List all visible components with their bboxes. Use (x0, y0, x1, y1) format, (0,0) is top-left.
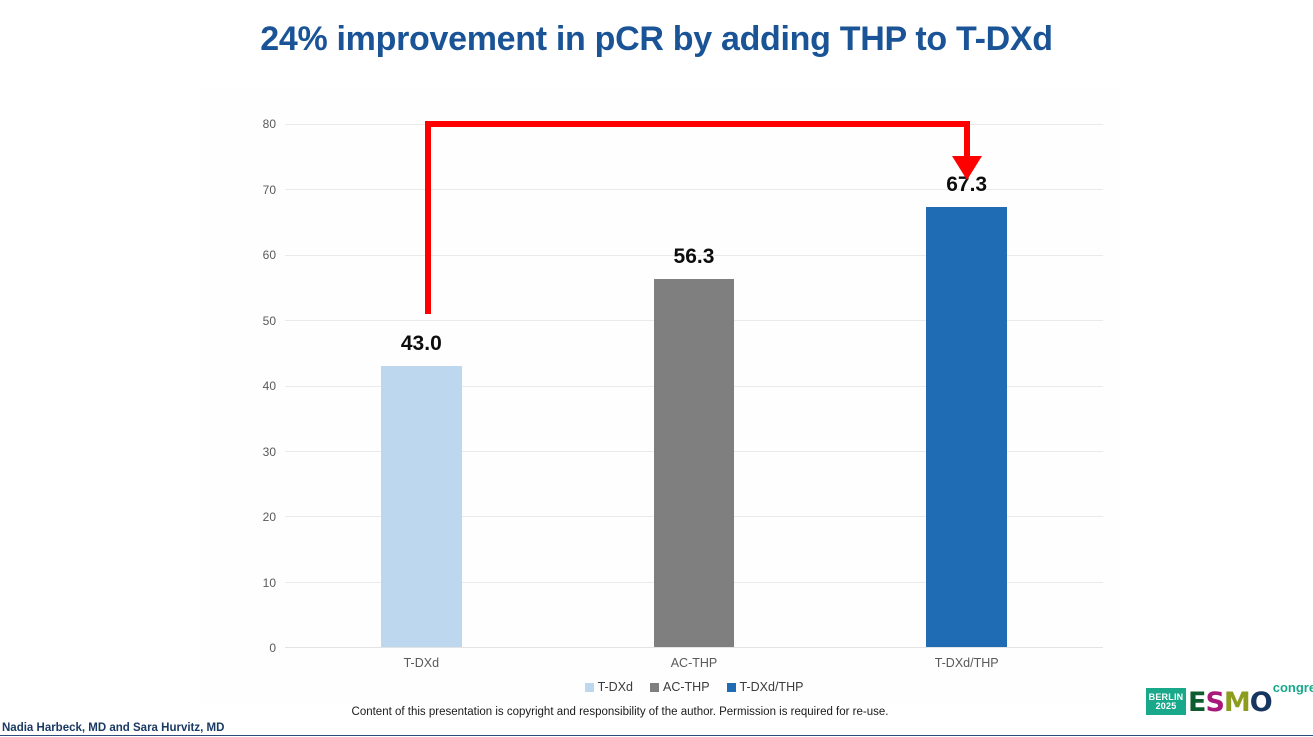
bar-value-label: 67.3 (946, 173, 987, 197)
y-axis-tick-label: 30 (263, 445, 276, 459)
esmo-letter-o: O (1250, 691, 1272, 715)
gridline: 80 (285, 124, 1103, 125)
esmo-letter-s: S (1205, 691, 1223, 715)
legend-swatch-icon (727, 683, 736, 692)
esmo-wordmark: E S M O (1188, 691, 1272, 715)
footer-divider (0, 735, 1313, 736)
legend-swatch-icon (585, 683, 594, 692)
y-axis-tick-label: 50 (263, 314, 276, 328)
legend-item[interactable]: AC-THP (650, 680, 710, 694)
legend-item[interactable]: T-DXd/THP (727, 680, 804, 694)
gridline: 0 (285, 647, 1103, 648)
berlin-2025-badge: BERLIN 2025 (1146, 688, 1186, 715)
copyright-notice: Content of this presentation is copyrigh… (0, 706, 1240, 718)
esmo-congress-logo: BERLIN 2025 E S M O congress (1146, 681, 1313, 715)
bar-t-dxd-thp[interactable]: 67.3T-DXd/THP (926, 207, 1007, 647)
page-title: 24% improvement in pCR by adding THP to … (0, 20, 1313, 59)
legend-label: T-DXd (598, 680, 633, 694)
logo-year: 2025 (1156, 702, 1177, 711)
legend-item[interactable]: T-DXd (585, 680, 633, 694)
esmo-letter-e: E (1188, 691, 1205, 715)
y-axis-tick-label: 60 (263, 248, 276, 262)
legend-label: T-DXd/THP (740, 680, 804, 694)
y-axis-tick-label: 0 (269, 641, 276, 655)
bar-value-label: 56.3 (674, 245, 715, 269)
y-axis-tick-label: 40 (263, 379, 276, 393)
chart-container: 0102030405060708043.0T-DXd56.3AC-THP67.3… (200, 88, 1120, 703)
y-axis-tick-label: 80 (263, 117, 276, 131)
x-axis-tick-label: T-DXd (404, 656, 439, 670)
y-axis-tick-label: 10 (263, 576, 276, 590)
logo-congress-text: congress (1273, 681, 1313, 694)
chart-legend: T-DXdAC-THPT-DXd/THP (285, 680, 1103, 694)
x-axis-tick-label: T-DXd/THP (935, 656, 999, 670)
author-names: Nadia Harbeck, MD and Sara Hurvitz, MD (2, 722, 224, 734)
bar-ac-thp[interactable]: 56.3AC-THP (654, 279, 735, 647)
plot-area: 0102030405060708043.0T-DXd56.3AC-THP67.3… (285, 124, 1103, 647)
x-axis-tick-label: AC-THP (671, 656, 718, 670)
bar-value-label: 43.0 (401, 332, 442, 356)
bar-t-dxd[interactable]: 43.0T-DXd (381, 366, 462, 647)
y-axis-tick-label: 20 (263, 510, 276, 524)
esmo-letter-m: M (1224, 691, 1250, 715)
legend-label: AC-THP (663, 680, 710, 694)
legend-swatch-icon (650, 683, 659, 692)
y-axis-tick-label: 70 (263, 183, 276, 197)
